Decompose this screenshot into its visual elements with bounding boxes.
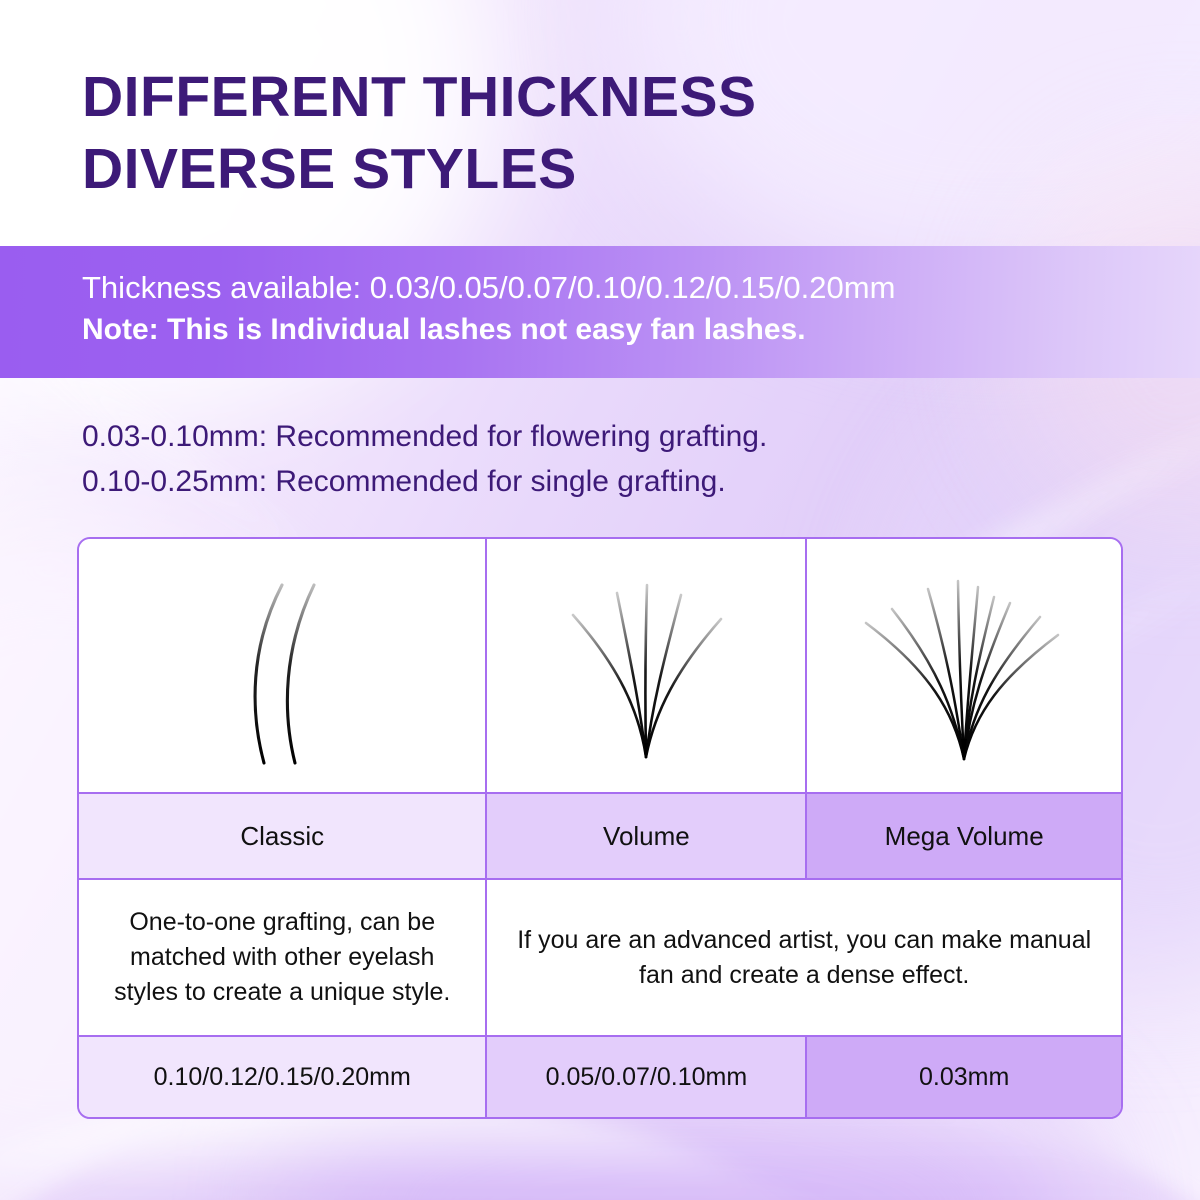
table-row-descriptions: One-to-one grafting, can be matched with… [79,880,1121,1037]
table-row-thickness: 0.10/0.12/0.15/0.20mm 0.05/0.07/0.10mm 0… [79,1037,1121,1117]
page-title-line-2: DIVERSE STYLES [82,134,1082,206]
recommendation-block: 0.03-0.10mm: Recommended for flowering g… [82,414,1122,504]
description-cell-classic: One-to-one grafting, can be matched with… [79,880,487,1035]
label-cell-mega-volume: Mega Volume [807,794,1121,878]
lash-style-comparison-table: Classic Volume Mega Volume One-to-one gr… [77,537,1123,1119]
thickness-volume: 0.05/0.07/0.10mm [546,1063,748,1092]
label-mega-volume: Mega Volume [885,821,1044,852]
description-cell-volume-mega: If you are an advanced artist, you can m… [487,880,1121,1035]
volume-fan-icon [531,551,761,781]
recommendation-line-2: 0.10-0.25mm: Recommended for single graf… [82,459,1122,504]
cell-illustration-volume [487,539,807,792]
recommendation-line-1: 0.03-0.10mm: Recommended for flowering g… [82,414,1122,459]
page-title: DIFFERENT THICKNESS DIVERSE STYLES [82,62,1082,206]
label-classic: Classic [240,821,324,852]
thickness-available-text: Thickness available: 0.03/0.05/0.07/0.10… [82,268,1200,309]
classic-lash-icon [172,551,392,781]
page-title-line-1: DIFFERENT THICKNESS [82,62,1082,134]
label-cell-classic: Classic [79,794,487,878]
label-cell-volume: Volume [487,794,807,878]
table-row-labels: Classic Volume Mega Volume [79,794,1121,880]
thickness-cell-classic: 0.10/0.12/0.15/0.20mm [79,1037,487,1117]
thickness-mega-volume: 0.03mm [919,1063,1009,1092]
thickness-classic: 0.10/0.12/0.15/0.20mm [154,1063,411,1092]
thickness-cell-mega-volume: 0.03mm [807,1037,1121,1117]
cell-illustration-mega-volume [807,539,1121,792]
cell-illustration-classic [79,539,487,792]
infographic-page: DIFFERENT THICKNESS DIVERSE STYLES Thick… [0,0,1200,1200]
table-row-illustrations [79,539,1121,794]
thickness-banner: Thickness available: 0.03/0.05/0.07/0.10… [0,246,1200,378]
description-classic: One-to-one grafting, can be matched with… [97,905,467,1010]
description-volume-mega: If you are an advanced artist, you can m… [505,923,1103,993]
thickness-cell-volume: 0.05/0.07/0.10mm [487,1037,807,1117]
label-volume: Volume [603,821,690,852]
mega-volume-fan-icon [844,551,1084,781]
banner-note-text: Note: This is Individual lashes not easy… [82,309,1200,352]
